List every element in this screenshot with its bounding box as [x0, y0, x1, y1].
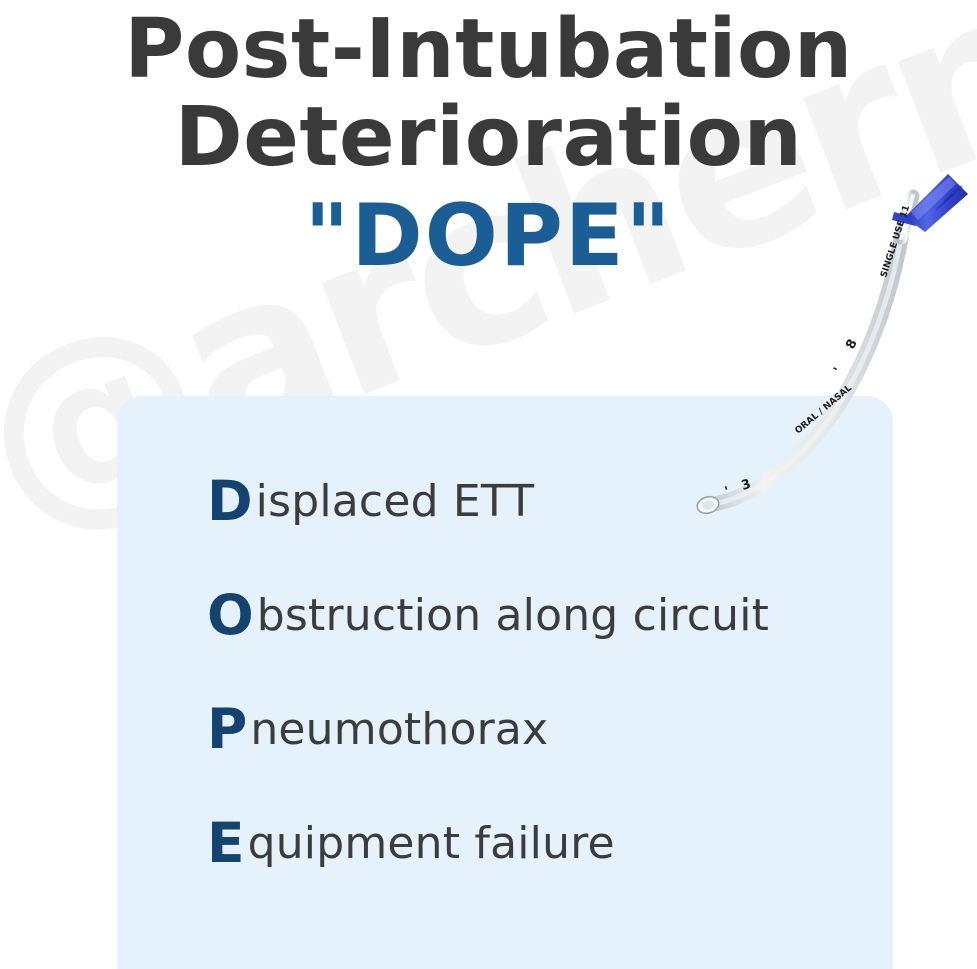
list-item-initial: P	[207, 700, 247, 758]
poster-canvas: @archernclex Post-Intubation Deteriorati…	[0, 0, 977, 969]
list-item-label: bstruction along circuit	[254, 586, 769, 646]
mnemonic-title: "DOPE"	[0, 188, 977, 284]
list-item: D isplaced ETT	[207, 472, 907, 586]
list-item-initial: O	[207, 586, 254, 644]
mnemonic-list: D isplaced ETT O bstruction along circui…	[207, 472, 907, 928]
list-item-label: neumothorax	[247, 700, 548, 760]
list-item: O bstruction along circuit	[207, 586, 907, 700]
list-item-initial: D	[207, 472, 253, 530]
list-item-label: isplaced ETT	[253, 472, 535, 532]
page-title-line-1: Post-Intubation	[0, 6, 977, 94]
list-item: E quipment failure	[207, 814, 907, 928]
list-item-initial: E	[207, 814, 245, 872]
page-title-line-2: Deterioration	[0, 94, 977, 182]
svg-text:8: 8	[843, 337, 860, 352]
header: Post-Intubation Deterioration "DOPE"	[0, 6, 977, 284]
svg-text:': '	[831, 365, 846, 376]
list-item: P neumothorax	[207, 700, 907, 814]
list-item-label: quipment failure	[245, 814, 615, 874]
